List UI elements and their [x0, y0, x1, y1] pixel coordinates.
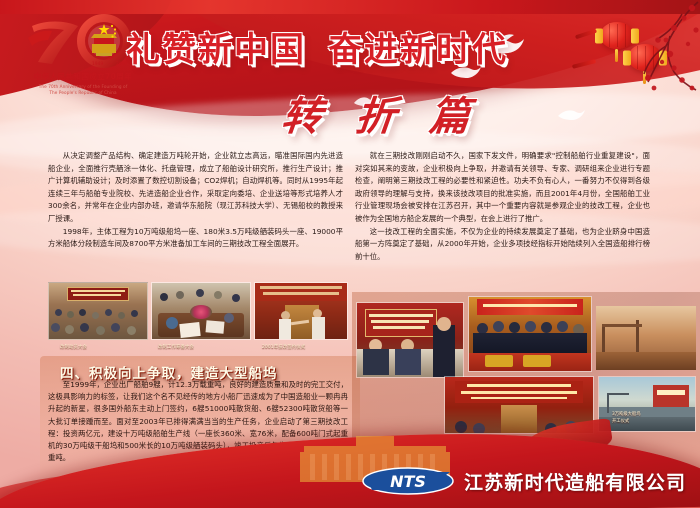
- emblem-chinese-text: 中华人民共和国成立70周年: [22, 71, 144, 82]
- right-paragraph-2: 这一技改工程的全面实施，不仅为企业的持续发展奠定了基础，也为企业跻身中国造船第一…: [355, 226, 650, 264]
- caption-30000t-dock-start-line2: 开工仪式: [612, 419, 629, 425]
- emblem-english-line-2: The People's Republic of China: [22, 90, 144, 96]
- nts-logo-text: NTS: [390, 472, 426, 491]
- photo-mobilization-meeting: [48, 282, 148, 340]
- photo-dock-construction: [596, 306, 696, 370]
- footer: NTS 江苏新时代造船有限公司: [362, 466, 686, 496]
- company-name: 江苏新时代造船有限公司: [464, 468, 686, 495]
- caption-mobilization-meeting: 改制动员大会: [60, 344, 87, 350]
- page-subtitle: 转 折 篇: [279, 84, 483, 142]
- emblem-70-icon: 1949 — 2019: [24, 12, 142, 70]
- caption-30000t-dock-start: 3万吨级大船坞: [612, 412, 641, 418]
- photo-groundbreaking-ceremony: [468, 296, 592, 372]
- article-left-column: 从决定调整产品结构、确定建造万吨轮开始，企业就立志高远，瞄准国际国内先进造船企业…: [48, 150, 343, 251]
- poster-canvas: 1949 — 2019 中华人民共和国成立70周年 The 70th Anniv…: [0, 0, 700, 508]
- headline-part-1: 礼赞新中国: [126, 30, 306, 70]
- emblem-english-line-1: The 70th Anniversary of the Founding of: [22, 84, 144, 90]
- page-title: 礼赞新中国奋进新时代: [126, 22, 508, 71]
- emblem-year-left: 1949: [92, 61, 103, 67]
- caption-signing-ceremony: 2001年技改签约仪式: [262, 344, 305, 350]
- photo-preparation-meeting: [151, 282, 251, 340]
- left-paragraph-2: 1998年，主体工程为10万吨级船坞一座、180米3.5万吨级舾装码头一座、19…: [48, 226, 343, 251]
- photo-strip-upper: [48, 282, 348, 342]
- plum-blossom-branch-icon: [570, 0, 700, 130]
- emblem-year-separator: —: [108, 62, 113, 67]
- left-paragraph-1: 从决定调整产品结构、确定建造万吨轮开始，企业就立志高远，瞄准国际国内先进造船企业…: [48, 150, 343, 226]
- article-right-column: 就在三期技改刚刚启动不久，国家下发文件，明确要求"控制船舶行业重复建设"，面对突…: [355, 150, 650, 263]
- headline-part-2: 奋进新时代: [328, 30, 508, 70]
- photo-signing-ceremony: [254, 282, 348, 340]
- photo-53000t-contract: [356, 302, 464, 378]
- right-paragraph-1: 就在三期技改刚刚启动不久，国家下发文件，明确要求"控制船舶行业重复建设"，面对突…: [355, 150, 650, 226]
- nts-logo-icon: NTS: [362, 466, 454, 496]
- caption-preparation-meeting: 改制工作筹备大会: [158, 344, 194, 350]
